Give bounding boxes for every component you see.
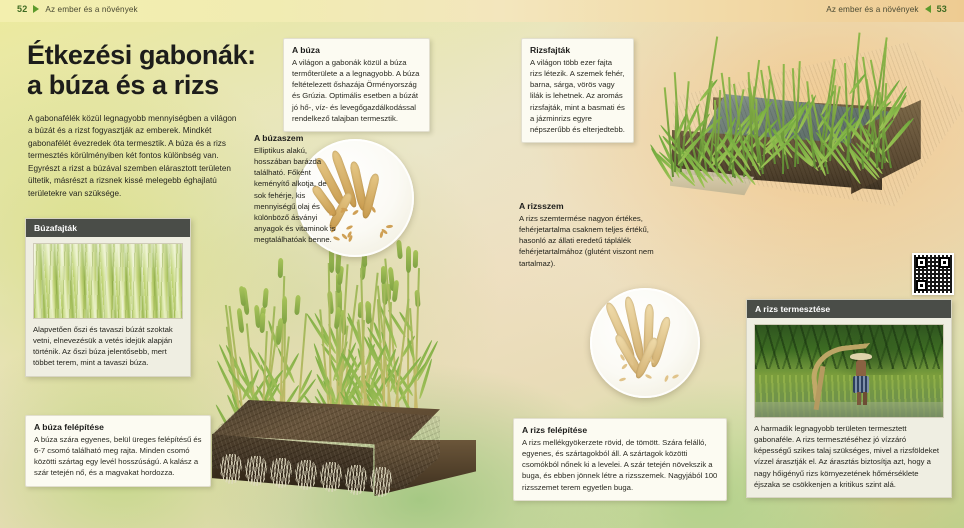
card-rizsfajtak: Rizsfajták A világon több ezer fajta riz… — [521, 38, 634, 143]
photo-box-rizs-termesztese-body: A harmadik legnagyobb területen termeszt… — [747, 318, 951, 497]
wheat-grain — [386, 225, 393, 229]
section-title-right: Az ember és a növények — [826, 5, 918, 14]
caption-a-rizsszem-title: A rizsszem — [519, 201, 667, 211]
farmer-leg-right — [863, 392, 867, 405]
wheat-ear — [396, 240, 403, 259]
rice-farmer-photo — [754, 324, 944, 418]
rice-stalk — [782, 64, 785, 174]
card-a-buza-felepitese-title: A búza felépítése — [34, 422, 202, 432]
wheat-ear — [413, 250, 418, 268]
rice-grain — [645, 374, 653, 380]
rice-paddy-illustration — [648, 34, 964, 244]
header-left: 52 Az ember és a növények — [17, 4, 138, 14]
rice-grain — [619, 377, 627, 382]
qr-code[interactable] — [912, 253, 954, 295]
card-a-rizs-felepitese-text: A rizs mellékgyökerzete rövid, de tömött… — [522, 437, 718, 493]
page-header-band — [0, 0, 964, 22]
header-right: Az ember és a növények 53 — [826, 4, 947, 14]
photo-box-buzafajtak-caption: Alapvetően őszi és tavaszi búzát szoktak… — [33, 324, 183, 369]
wheat-root-cluster — [220, 454, 242, 484]
farmer-sarong — [853, 376, 869, 393]
photo-box-rizs-termesztese: A rizs termesztése A harmadik legnagyobb… — [746, 299, 952, 498]
wheat-grain — [352, 209, 359, 216]
card-a-buza-felepitese: A búza felépítése A búza szára egyenes, … — [25, 415, 211, 487]
wheat-ear — [262, 287, 269, 308]
caption-a-buzaszem: A búzaszem Elliptikus alakú, hosszában b… — [254, 133, 340, 245]
triangle-right-icon — [33, 5, 39, 13]
card-a-buza-felepitese-text: A búza szára egyenes, belül üreges felép… — [34, 434, 202, 479]
card-rizsfajtak-text: A világon több ezer fajta rizs létezik. … — [530, 57, 625, 135]
soil-top-face — [212, 400, 440, 446]
caption-a-buzaszem-text: Elliptikus alakú, hosszában barázda talá… — [254, 145, 340, 245]
farmer-leg-left — [857, 392, 861, 405]
section-title-left: Az ember és a növények — [45, 5, 137, 14]
qr-eye-top-right — [939, 257, 950, 268]
qr-eye-top-left — [916, 257, 927, 268]
card-a-buza-text: A világon a gabonák közül a búza termőte… — [292, 57, 421, 124]
caption-a-rizsszem: A rizsszem A rizs szemtermése nagyon ért… — [519, 201, 667, 269]
card-a-buza-title: A búza — [292, 45, 421, 55]
wheat-ear — [294, 294, 301, 314]
farmer-torso — [856, 360, 866, 378]
lead-paragraph: A gabonafélék közül legnagyobb mennyiség… — [28, 113, 240, 200]
wheat-root-cluster — [370, 467, 392, 497]
photo-box-rizs-termesztese-caption: A harmadik legnagyobb területen termeszt… — [754, 423, 944, 490]
wheat-ear — [406, 246, 411, 273]
page-title: Étkezési gabonák: a búza és a rizs — [27, 40, 277, 100]
wheat-ear — [259, 313, 265, 333]
photo-box-rizs-termesztese-title: A rizs termesztése — [747, 300, 951, 318]
farmer-figure — [853, 353, 870, 405]
wheat-grain — [370, 206, 376, 214]
rice-grain — [672, 374, 680, 380]
page-number-right: 53 — [937, 4, 947, 14]
rice-grain — [621, 363, 628, 370]
card-a-rizs-felepitese-title: A rizs felépítése — [522, 425, 718, 435]
wheat-root-cluster — [320, 462, 342, 492]
photo-box-buzafajtak-title: Búzafajták — [26, 219, 190, 237]
rice-grain — [664, 375, 669, 383]
wheat-grain — [346, 225, 354, 231]
wheat-soil-block-illustration — [176, 240, 486, 510]
wheat-ear — [392, 280, 400, 302]
caption-a-buzaszem-title: A búzaszem — [254, 133, 340, 143]
card-a-buza: A búza A világon a gabonák közül a búza … — [283, 38, 430, 132]
qr-eye-bottom-left — [916, 280, 927, 291]
wheat-root-cluster — [270, 458, 292, 488]
wheat-root-cluster — [345, 465, 367, 495]
photo-box-buzafajtak: Búzafajták Alapvetően őszi és tavaszi bú… — [25, 218, 191, 377]
textbook-spread: 52 Az ember és a növények Az ember és a … — [0, 0, 964, 528]
triangle-left-icon — [925, 5, 931, 13]
card-rizsfajtak-title: Rizsfajták — [530, 45, 625, 55]
card-a-rizs-felepitese: A rizs felépítése A rizs mellékgyökerzet… — [513, 418, 727, 501]
page-number-left: 52 — [17, 4, 27, 14]
wheat-stalk — [414, 268, 420, 411]
conical-hat-icon — [850, 353, 872, 360]
rice-ears-inset-photo — [590, 288, 700, 398]
wheat-root-cluster — [295, 460, 317, 490]
wheat-field-photo — [33, 243, 183, 319]
wheat-root-cluster — [245, 456, 267, 486]
photo-box-buzafajtak-body: Alapvetően őszi és tavaszi búzát szoktak… — [26, 237, 190, 376]
wheat-ear — [278, 258, 284, 278]
flooded-water — [755, 402, 943, 417]
caption-a-rizsszem-text: A rizs szemtermése nagyon értékes, fehér… — [519, 213, 667, 269]
wheat-ear — [381, 266, 386, 284]
